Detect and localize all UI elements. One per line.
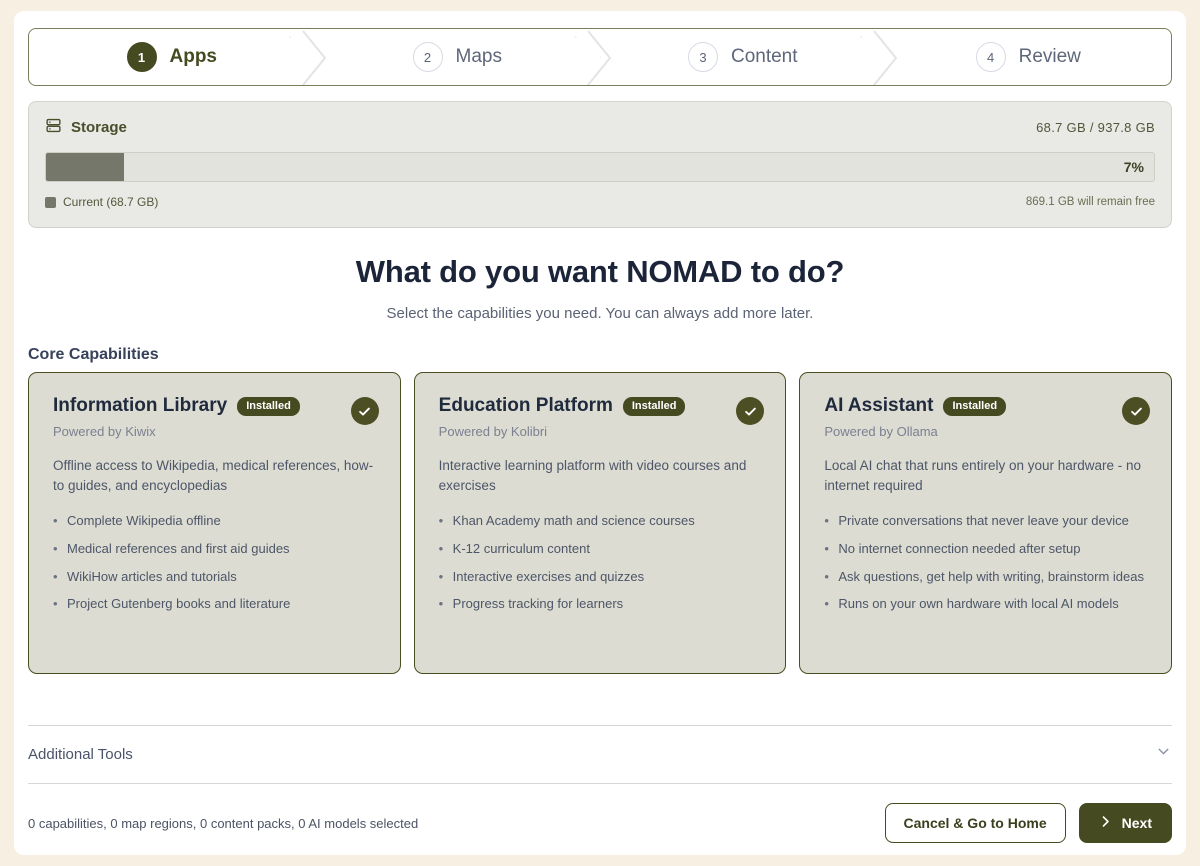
storage-progress-fill	[46, 153, 124, 181]
page-subtitle: Select the capabilities you need. You ca…	[14, 305, 1186, 322]
step-maps[interactable]: 2 Maps	[315, 29, 601, 85]
app-page: 1 Apps 2 Maps 3 Content 4 Review	[14, 11, 1186, 855]
next-button-label: Next	[1122, 815, 1152, 831]
card-feature-list: Private conversations that never leave y…	[824, 512, 1147, 614]
legend-label-current: Current (68.7 GB)	[63, 195, 158, 209]
step-label-content: Content	[731, 46, 798, 68]
step-number-2: 2	[413, 42, 443, 72]
capability-card-education-platform[interactable]: Education Platform Installed Powered by …	[414, 372, 787, 674]
step-number-4: 4	[976, 42, 1006, 72]
capability-card-list: Information Library Installed Powered by…	[28, 372, 1172, 674]
storage-footer: Current (68.7 GB) 869.1 GB will remain f…	[45, 195, 1155, 209]
card-powered-by: Powered by Kolibri	[439, 424, 762, 439]
chevron-down-icon[interactable]	[1155, 743, 1172, 765]
card-feature-item: Interactive exercises and quizzes	[439, 568, 762, 587]
server-icon	[45, 117, 62, 138]
chevron-right-icon	[1099, 815, 1112, 831]
step-apps[interactable]: 1 Apps	[29, 29, 315, 85]
card-title: Information Library	[53, 395, 227, 417]
card-description: Interactive learning platform with video…	[439, 456, 762, 496]
step-review[interactable]: 4 Review	[886, 29, 1172, 85]
step-label-maps: Maps	[456, 46, 502, 68]
card-header: Education Platform Installed	[439, 395, 762, 417]
storage-panel: Storage 68.7 GB / 937.8 GB 7% Current (6…	[28, 101, 1172, 228]
card-feature-item: Progress tracking for learners	[439, 595, 762, 614]
step-label-apps: Apps	[170, 46, 218, 68]
step-number-3: 3	[688, 42, 718, 72]
card-feature-item: Project Gutenberg books and literature	[53, 595, 376, 614]
card-feature-item: WikiHow articles and tutorials	[53, 568, 376, 587]
storage-title-group: Storage	[45, 117, 127, 138]
card-feature-list: Khan Academy math and science courses K-…	[439, 512, 762, 614]
step-content[interactable]: 3 Content	[600, 29, 886, 85]
divider-bottom	[28, 783, 1172, 784]
section-title-core-capabilities: Core Capabilities	[28, 346, 159, 364]
status-badge: Installed	[237, 397, 300, 416]
next-button[interactable]: Next	[1079, 803, 1172, 843]
storage-remaining-label: 869.1 GB will remain free	[1026, 196, 1155, 208]
card-title: Education Platform	[439, 395, 613, 417]
legend-swatch-current	[45, 197, 56, 208]
step-label-review: Review	[1019, 46, 1081, 68]
storage-label: Storage	[71, 119, 127, 136]
wizard-footer: 0 capabilities, 0 map regions, 0 content…	[28, 801, 1172, 845]
card-feature-item: Runs on your own hardware with local AI …	[824, 595, 1147, 614]
selection-summary: 0 capabilities, 0 map regions, 0 content…	[28, 816, 418, 831]
capability-card-information-library[interactable]: Information Library Installed Powered by…	[28, 372, 401, 674]
status-badge: Installed	[943, 397, 1006, 416]
wizard-stepper: 1 Apps 2 Maps 3 Content 4 Review	[28, 28, 1172, 86]
card-feature-item: No internet connection needed after setu…	[824, 540, 1147, 559]
storage-amount: 68.7 GB / 937.8 GB	[1036, 120, 1155, 135]
storage-legend: Current (68.7 GB)	[45, 195, 158, 209]
card-powered-by: Powered by Kiwix	[53, 424, 376, 439]
storage-percent-label: 7%	[1124, 159, 1144, 175]
card-feature-item: Khan Academy math and science courses	[439, 512, 762, 531]
card-header: Information Library Installed	[53, 395, 376, 417]
card-feature-item: Private conversations that never leave y…	[824, 512, 1147, 531]
selected-check-icon[interactable]	[351, 397, 379, 425]
card-description: Offline access to Wikipedia, medical ref…	[53, 456, 376, 496]
storage-progress-bar: 7%	[45, 152, 1155, 182]
footer-actions: Cancel & Go to Home Next	[885, 803, 1173, 843]
card-powered-by: Powered by Ollama	[824, 424, 1147, 439]
additional-tools-toggle[interactable]: Additional Tools	[28, 725, 1172, 783]
card-description: Local AI chat that runs entirely on your…	[824, 456, 1147, 496]
additional-tools-label: Additional Tools	[28, 746, 133, 763]
card-feature-item: K-12 curriculum content	[439, 540, 762, 559]
status-badge: Installed	[623, 397, 686, 416]
capability-card-ai-assistant[interactable]: AI Assistant Installed Powered by Ollama…	[799, 372, 1172, 674]
storage-header: Storage 68.7 GB / 937.8 GB	[45, 116, 1155, 138]
card-feature-item: Ask questions, get help with writing, br…	[824, 568, 1147, 587]
cancel-button[interactable]: Cancel & Go to Home	[885, 803, 1066, 843]
card-feature-item: Complete Wikipedia offline	[53, 512, 376, 531]
selected-check-icon[interactable]	[736, 397, 764, 425]
card-feature-list: Complete Wikipedia offline Medical refer…	[53, 512, 376, 614]
card-title: AI Assistant	[824, 395, 933, 417]
selected-check-icon[interactable]	[1122, 397, 1150, 425]
card-header: AI Assistant Installed	[824, 395, 1147, 417]
step-number-1: 1	[127, 42, 157, 72]
hero-section: What do you want NOMAD to do? Select the…	[14, 254, 1186, 322]
card-feature-item: Medical references and first aid guides	[53, 540, 376, 559]
page-title: What do you want NOMAD to do?	[14, 254, 1186, 290]
